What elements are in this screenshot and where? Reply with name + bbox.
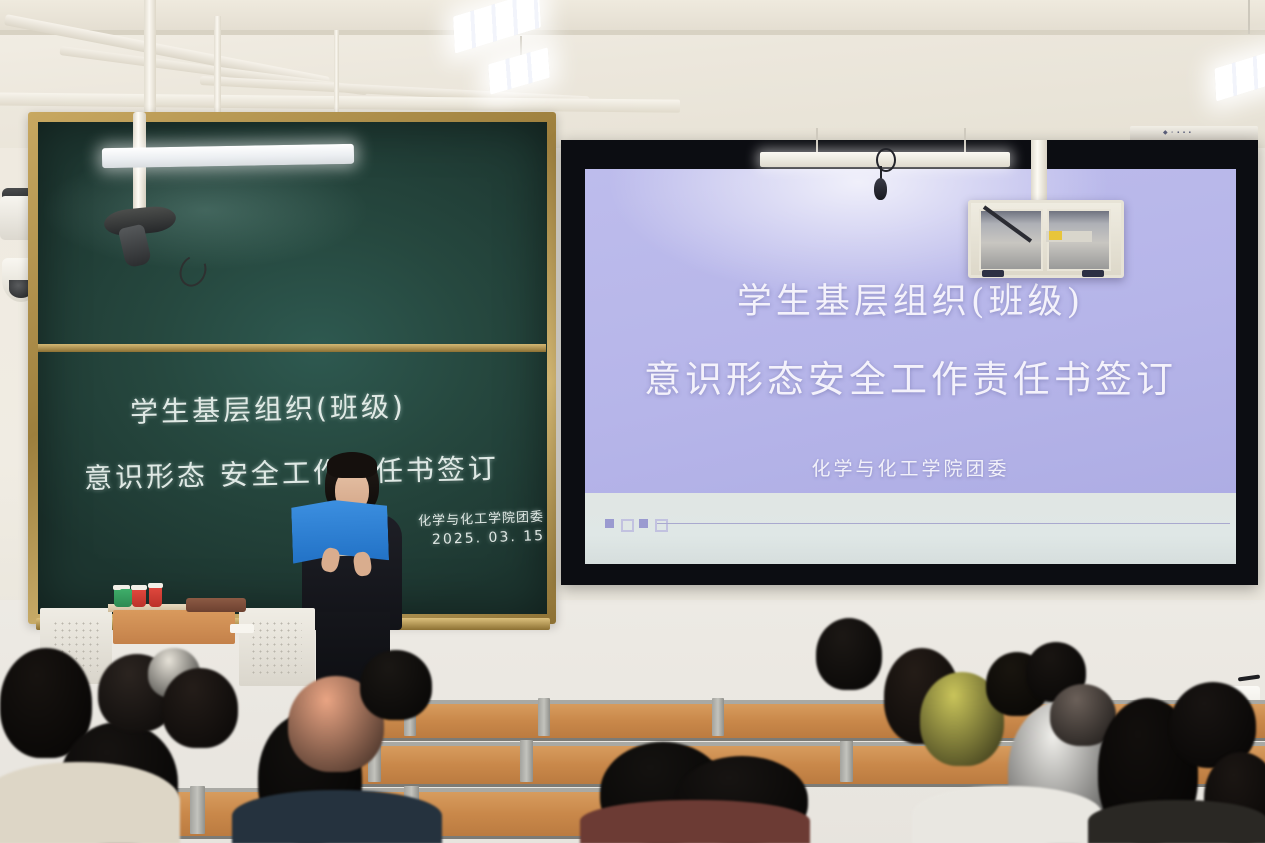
ceiling-pipe-2: [214, 16, 221, 126]
blackboard: [28, 112, 556, 624]
slide-footer-rule: [657, 523, 1230, 524]
audience-shoulders-4: [912, 786, 1102, 843]
podium-cup-green-2: [120, 589, 132, 607]
podium-cup-red-1: [132, 588, 146, 607]
projector-foot-left: [982, 270, 1004, 277]
lecture-hall-photo: 学生基层组织(班级) 意识形态 安全工作责任书签订 化学与化工学院团委 2025…: [0, 0, 1265, 843]
podium-cup-red-2: [149, 586, 162, 607]
slide-subtitle: 化学与化工学院团委: [585, 454, 1236, 481]
desk-post-b3: [712, 698, 724, 736]
podium-cup-lid-3: [148, 583, 163, 588]
audience-head-11: [816, 618, 882, 690]
podium-front-panel: [113, 610, 235, 644]
slide-footer-square-2: [621, 519, 634, 532]
blackboard-divider: [38, 344, 546, 352]
podium-object: [186, 598, 246, 612]
audience-head-8: [360, 650, 432, 720]
podium-cup-lid-2: [131, 585, 147, 590]
audience-shoulders-1: [0, 762, 180, 843]
ceiling-slab: [0, 0, 1265, 34]
slide-footer-band: [585, 493, 1236, 564]
ceiling-edge: [0, 30, 1265, 35]
projection-screen: 学生基层组织(班级) 意识形态安全工作责任书签订 化学与化工学院团委: [561, 140, 1258, 585]
hanging-cable-weight: [874, 178, 887, 200]
slide-title-line-1: 学生基层组织(班级): [585, 273, 1236, 324]
screen-brand-logo: ◆ ▫ ▪ ▪ ▪: [1163, 129, 1192, 136]
presenter-fringe: [327, 452, 377, 478]
ceiling-pipe-1: [144, 0, 156, 118]
screen-light-wire-1: [816, 128, 818, 154]
blackboard-line-1: 学生基层组织(班级): [130, 385, 407, 431]
screen-surface: 学生基层组织(班级) 意识形态安全工作责任书签订 化学与化工学院团委: [585, 169, 1236, 564]
light-hanger-wire-3: [1248, 0, 1250, 34]
podium-white-box: [230, 624, 254, 633]
hanging-cable-loop: [876, 148, 896, 172]
presentation-slide: 学生基层组织(班级) 意识形态安全工作责任书签订 化学与化工学院团委: [585, 169, 1236, 493]
projector-mount-pole: [1031, 140, 1047, 202]
desk-post-f1: [190, 786, 205, 834]
projector-foot-right: [1082, 270, 1104, 277]
projector-warning-label: [1049, 231, 1062, 240]
cabinet-grille-right: [250, 620, 302, 676]
desk-post-m3: [840, 740, 853, 782]
slide-title-line-2: 意识形态安全工作责任书签订: [585, 349, 1236, 403]
audience-shoulders-2: [232, 790, 442, 843]
desk-post-b2: [538, 698, 550, 736]
screen-light-wire-2: [964, 128, 966, 154]
slide-footer-square-4: [655, 519, 668, 532]
blue-folder: [291, 498, 389, 563]
audience-head-5: [162, 668, 238, 748]
slide-footer-square-3: [639, 519, 648, 528]
audience-shoulders-5: [1088, 800, 1265, 843]
projector-panel-left: [979, 209, 1043, 271]
desk-post-m2: [520, 740, 533, 782]
audience-shoulders-3: [580, 800, 810, 843]
slide-footer-square-1: [605, 519, 614, 528]
